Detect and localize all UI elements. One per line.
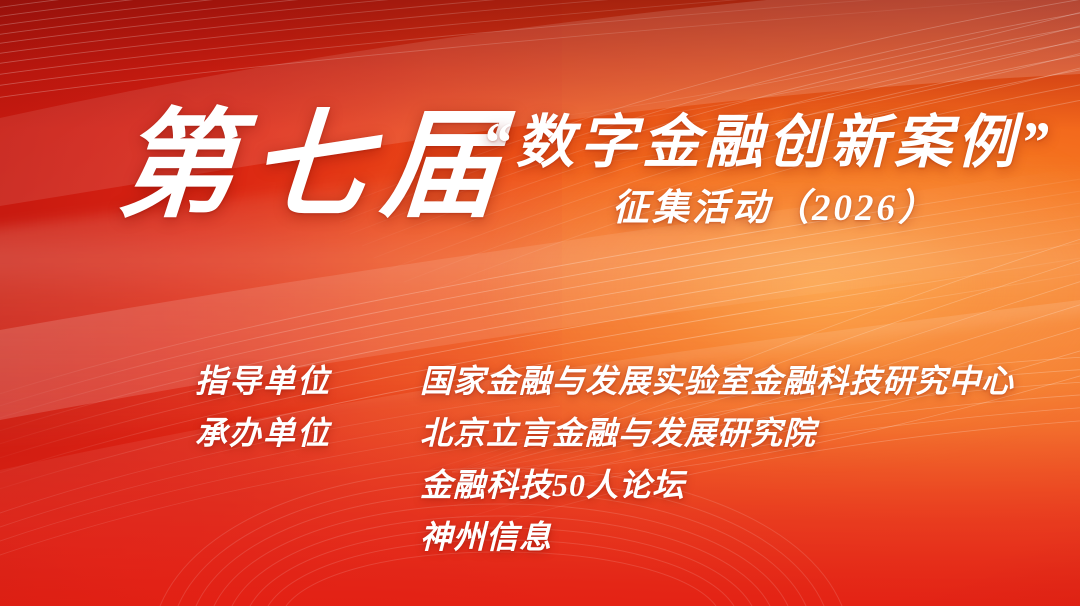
background-ribbon-lines (0, 0, 1080, 606)
poster-canvas: 第七届 “数字金融创新案例” 征集活动（2026） 指导单位 国家金融与发展实验… (0, 0, 1080, 606)
